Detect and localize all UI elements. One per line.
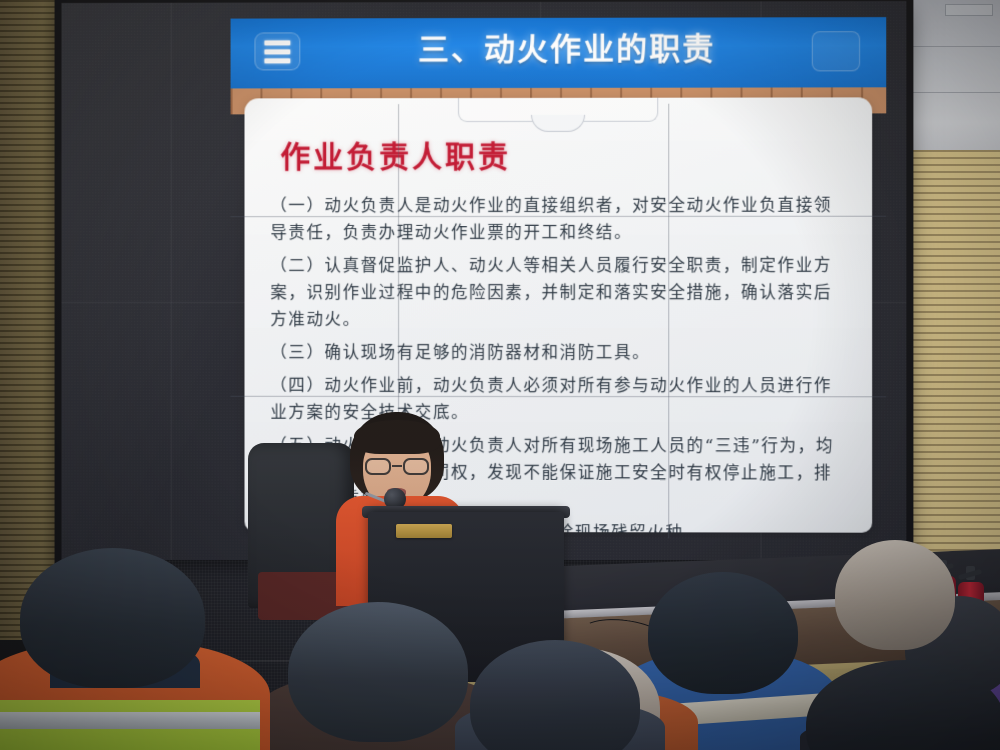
slide-paragraph-1: （一）动火负责人是动火作业的直接组织者，对安全动火作业负直接领导责任，负责办理动… — [270, 192, 846, 246]
attendee-orange-hi-vis-vest — [20, 548, 205, 688]
attendee-maroon-shirt — [288, 602, 468, 742]
glasses-icon — [365, 458, 429, 475]
podium-name-plate — [396, 524, 452, 538]
section-title: 作业负责人职责 — [280, 132, 846, 177]
presenter-fringe — [354, 420, 440, 454]
training-room-photo: 三、动火作业的职责 作业负责人职责 （一）动火负责人是动火作业的直接组织者，对安… — [0, 0, 1000, 750]
slide-paragraph-2: （二）认真督促监护人、动火人等相关人员履行安全职责，制定作业方案，识别作业过程中… — [270, 252, 846, 333]
slide-title: 三、动火作业的职责 — [231, 23, 887, 69]
slide-header-bar: 三、动火作业的职责 — [231, 17, 887, 88]
attendee-blue-work-jacket — [648, 572, 798, 694]
vest-reflective-stripe — [0, 712, 260, 729]
header-right-button[interactable] — [812, 31, 860, 71]
attendee-bald-head — [835, 540, 955, 650]
ceiling-vent — [945, 4, 993, 16]
slide-paragraph-3: （三）确认现场有足够的消防器材和消防工具。 — [270, 339, 846, 366]
